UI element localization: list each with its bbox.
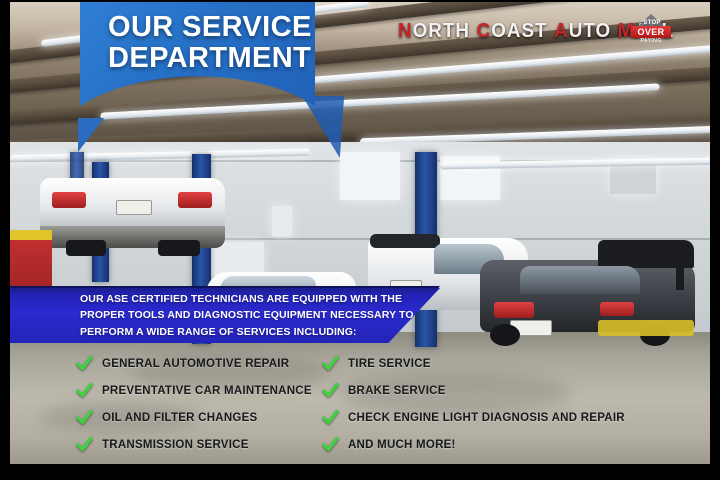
services-left-column: GENERAL AUTOMOTIVE REPAIR PREVENTATIVE C…	[76, 350, 312, 458]
service-label: GENERAL AUTOMOTIVE REPAIR	[102, 358, 289, 370]
check-icon	[76, 382, 93, 399]
check-icon	[322, 409, 339, 426]
logo-part: OAST	[491, 20, 547, 43]
logo-part: N	[398, 20, 413, 43]
page-title: OUR SERVICE DEPARTMENT	[108, 12, 338, 74]
logo-part: A	[554, 20, 569, 43]
service-item: PREVENTATIVE CAR MAINTENANCE	[76, 377, 312, 404]
info-band-text: OUR ASE CERTIFIED TECHNICIANS ARE EQUIPP…	[80, 291, 410, 340]
badge-line-3: PAYING	[631, 38, 671, 44]
info-line-1: OUR ASE CERTIFIED TECHNICIANS ARE EQUIPP…	[80, 291, 410, 307]
services-right-column: TIRE SERVICE BRAKE SERVICE CHECK ENGINE …	[322, 350, 625, 458]
service-label: TRANSMISSION SERVICE	[102, 439, 249, 451]
service-item: GENERAL AUTOMOTIVE REPAIR	[76, 350, 312, 377]
check-icon	[76, 409, 93, 426]
info-line-2: PROPER TOOLS AND DIAGNOSTIC EQUIPMENT NE…	[80, 307, 410, 323]
service-item: AND MUCH MORE!	[322, 431, 625, 458]
banner-tail	[78, 118, 104, 152]
service-label: TIRE SERVICE	[348, 358, 431, 370]
tool-chest-top	[10, 230, 52, 240]
logo-part: ORTH	[413, 20, 470, 43]
badge-line-2: OVER	[631, 26, 671, 38]
info-line-3: PERFORM A WIDE RANGE OF SERVICES INCLUDI…	[80, 324, 410, 340]
service-item: CHECK ENGINE LIGHT DIAGNOSIS AND REPAIR	[322, 404, 625, 431]
service-label: CHECK ENGINE LIGHT DIAGNOSIS AND REPAIR	[348, 412, 625, 424]
check-icon	[322, 355, 339, 372]
logo-part: C	[477, 20, 492, 43]
service-item: BRAKE SERVICE	[322, 377, 625, 404]
service-item: OIL AND FILTER CHANGES	[76, 404, 312, 431]
service-label: BRAKE SERVICE	[348, 385, 446, 397]
check-icon	[76, 355, 93, 372]
check-icon	[76, 436, 93, 453]
service-label: OIL AND FILTER CHANGES	[102, 412, 257, 424]
title-line-1: OUR SERVICE	[108, 12, 338, 43]
logo-part: UTO	[569, 20, 611, 43]
wall-panel	[340, 152, 400, 200]
check-icon	[322, 436, 339, 453]
wall-box	[272, 206, 292, 236]
check-icon	[322, 382, 339, 399]
service-label: PREVENTATIVE CAR MAINTENANCE	[102, 385, 312, 397]
lifted-car	[40, 178, 225, 256]
service-item: TIRE SERVICE	[322, 350, 625, 377]
floor-ramp	[598, 320, 694, 336]
title-line-2: DEPARTMENT	[108, 43, 338, 74]
stop-overpaying-badge[interactable]: STOP OVER PAYING	[630, 14, 672, 48]
service-item: TRANSMISSION SERVICE	[76, 431, 312, 458]
service-department-ad: OUR SERVICE DEPARTMENT NORTHCOASTAUTOMAL…	[0, 0, 720, 480]
service-label: AND MUCH MORE!	[348, 439, 456, 451]
